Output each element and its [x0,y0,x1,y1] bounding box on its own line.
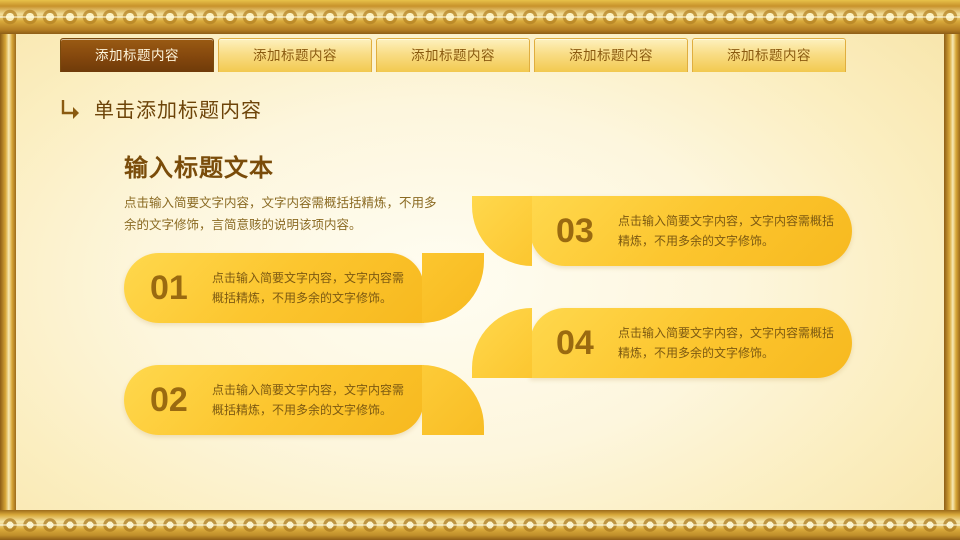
tab-5-label: 添加标题内容 [727,48,811,63]
item-03-number: 03 [556,212,618,251]
slide: 添加标题内容 添加标题内容 添加标题内容 添加标题内容 添加标题内容 单击添加标… [0,0,960,540]
item-02-text: 点击输入简要文字内容，文字内容需概括精炼，不用多余的文字修饰。 [212,380,424,420]
item-01-text: 点击输入简要文字内容，文字内容需概括精炼，不用多余的文字修饰。 [212,268,424,308]
slide-heading: 单击添加标题内容 [58,94,262,123]
tab-bar: 添加标题内容 添加标题内容 添加标题内容 添加标题内容 添加标题内容 [60,38,846,72]
item-petal-02[interactable]: 02 点击输入简要文字内容，文字内容需概括精炼，不用多余的文字修饰。 [124,365,424,435]
tab-1-label: 添加标题内容 [95,48,179,63]
tab-5[interactable]: 添加标题内容 [692,38,846,72]
tab-3[interactable]: 添加标题内容 [376,38,530,72]
item-01-number: 01 [150,269,212,308]
tab-3-label: 添加标题内容 [411,48,495,63]
band-highlight [0,16,960,18]
tab-4-label: 添加标题内容 [569,48,653,63]
right-gold-edge [944,34,960,510]
tab-1[interactable]: 添加标题内容 [60,38,214,72]
section-title: 输入标题文本 [124,148,274,183]
item-petal-01[interactable]: 01 点击输入简要文字内容，文字内容需概括精炼，不用多余的文字修饰。 [124,253,424,323]
item-petal-04[interactable]: 04 点击输入简要文字内容，文字内容需概括精炼，不用多余的文字修饰。 [530,308,852,378]
tab-2[interactable]: 添加标题内容 [218,38,372,72]
item-03-text: 点击输入简要文字内容，文字内容需概括精炼，不用多余的文字修饰。 [618,211,852,251]
item-petal-03[interactable]: 03 点击输入简要文字内容，文字内容需概括精炼，不用多余的文字修饰。 [530,196,852,266]
item-04-number: 04 [556,324,618,363]
tab-4[interactable]: 添加标题内容 [534,38,688,72]
top-decorative-band [0,0,960,34]
tab-2-label: 添加标题内容 [253,48,337,63]
section-lead-text: 点击输入简要文字内容，文字内容需概括括精炼，不用多余的文字修饰，言简意赅的说明该… [124,192,444,236]
band-highlight-bottom [0,524,960,526]
down-right-arrow-icon [58,96,84,122]
left-gold-edge [0,34,16,510]
item-04-text: 点击输入简要文字内容，文字内容需概括精炼，不用多余的文字修饰。 [618,323,852,363]
page-title: 单击添加标题内容 [94,94,262,123]
item-02-number: 02 [150,381,212,420]
bottom-decorative-band [0,510,960,540]
